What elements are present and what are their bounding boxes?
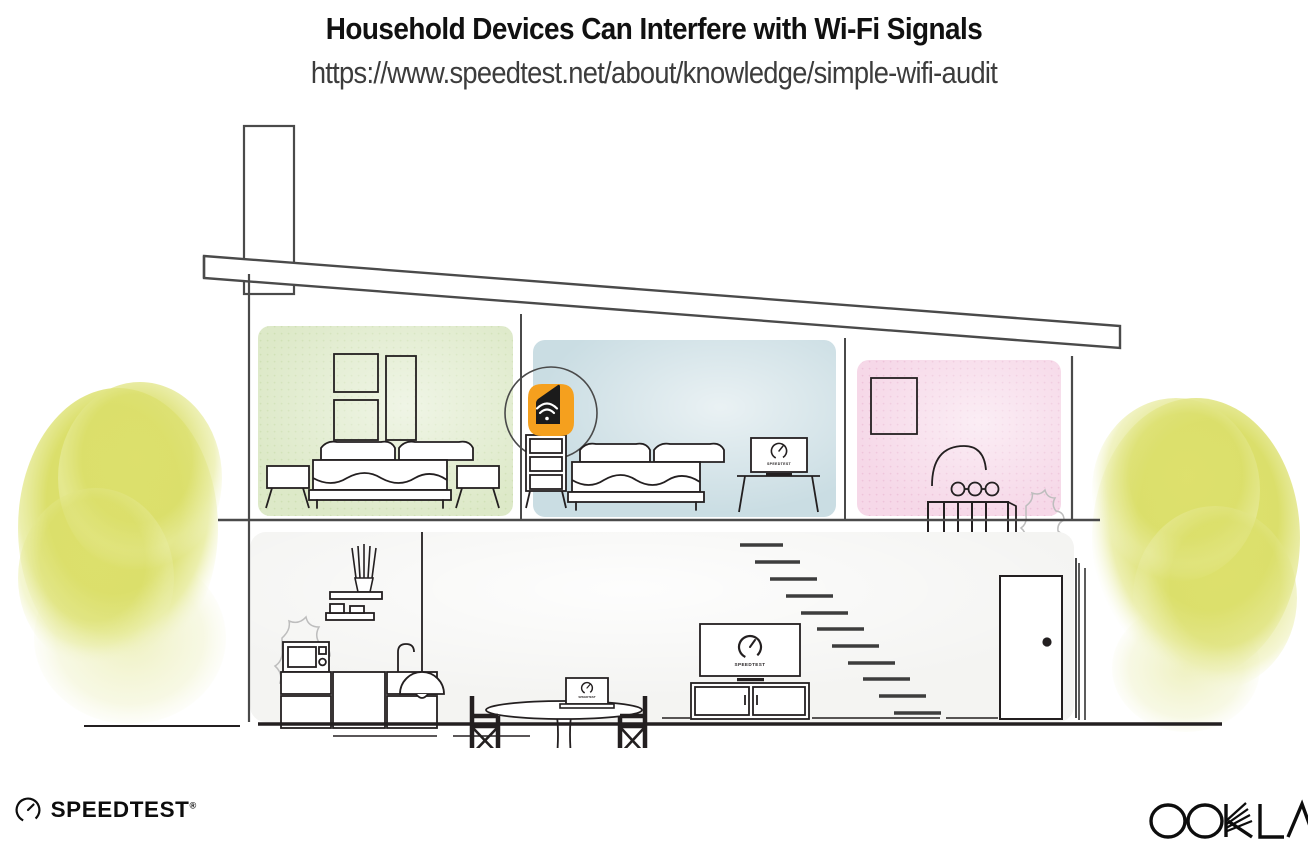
tv-bedroom-screen-label: SPEEDTEST <box>767 462 792 466</box>
room-ground-floor: SPEEDTEST <box>249 520 1085 748</box>
speedtest-wordmark-text: SPEEDTEST <box>51 797 190 822</box>
door-handle[interactable] <box>1042 637 1051 646</box>
laptop-screen-label: SPEEDTEST <box>578 695 595 699</box>
room-bedroom-green <box>258 326 513 516</box>
footer: SPEEDTEST® <box>0 780 1308 861</box>
tree-right <box>1092 398 1300 732</box>
ground-line <box>84 724 1222 726</box>
tv-bedroom[interactable]: SPEEDTEST <box>751 438 807 476</box>
media-console <box>691 683 809 719</box>
page-title: Household Devices Can Interfere with Wi-… <box>65 0 1242 47</box>
speedtest-gauge-icon-logo <box>14 796 42 824</box>
shelf-upper <box>330 592 382 599</box>
tree-left <box>18 382 226 724</box>
speedtest-trademark: ® <box>190 801 197 811</box>
ookla-wordmark: ® <box>1142 794 1308 848</box>
laptop[interactable]: SPEEDTEST <box>560 678 614 708</box>
door-side-trim <box>1079 563 1085 720</box>
room-bedroom-blue: SPEEDTEST <box>505 340 836 517</box>
tv-living-screen-label: SPEEDTEST <box>735 662 766 667</box>
header: Household Devices Can Interfere with Wi-… <box>0 0 1308 91</box>
poster-page: Household Devices Can Interfere with Wi-… <box>0 0 1308 861</box>
front-door[interactable] <box>1000 576 1062 719</box>
microwave[interactable] <box>283 642 329 672</box>
ookla-logo[interactable]: ® <box>1142 794 1308 853</box>
tv-living-room[interactable]: SPEEDTEST <box>700 624 800 681</box>
house-illustration: SPEEDTEST <box>0 108 1308 748</box>
bed-blue <box>568 444 724 510</box>
speedtest-logo[interactable]: SPEEDTEST® <box>14 796 195 824</box>
page-url: https://www.speedtest.net/about/knowledg… <box>78 47 1229 91</box>
wifi-router[interactable] <box>528 384 574 436</box>
speedtest-wordmark: SPEEDTEST® <box>51 797 197 823</box>
